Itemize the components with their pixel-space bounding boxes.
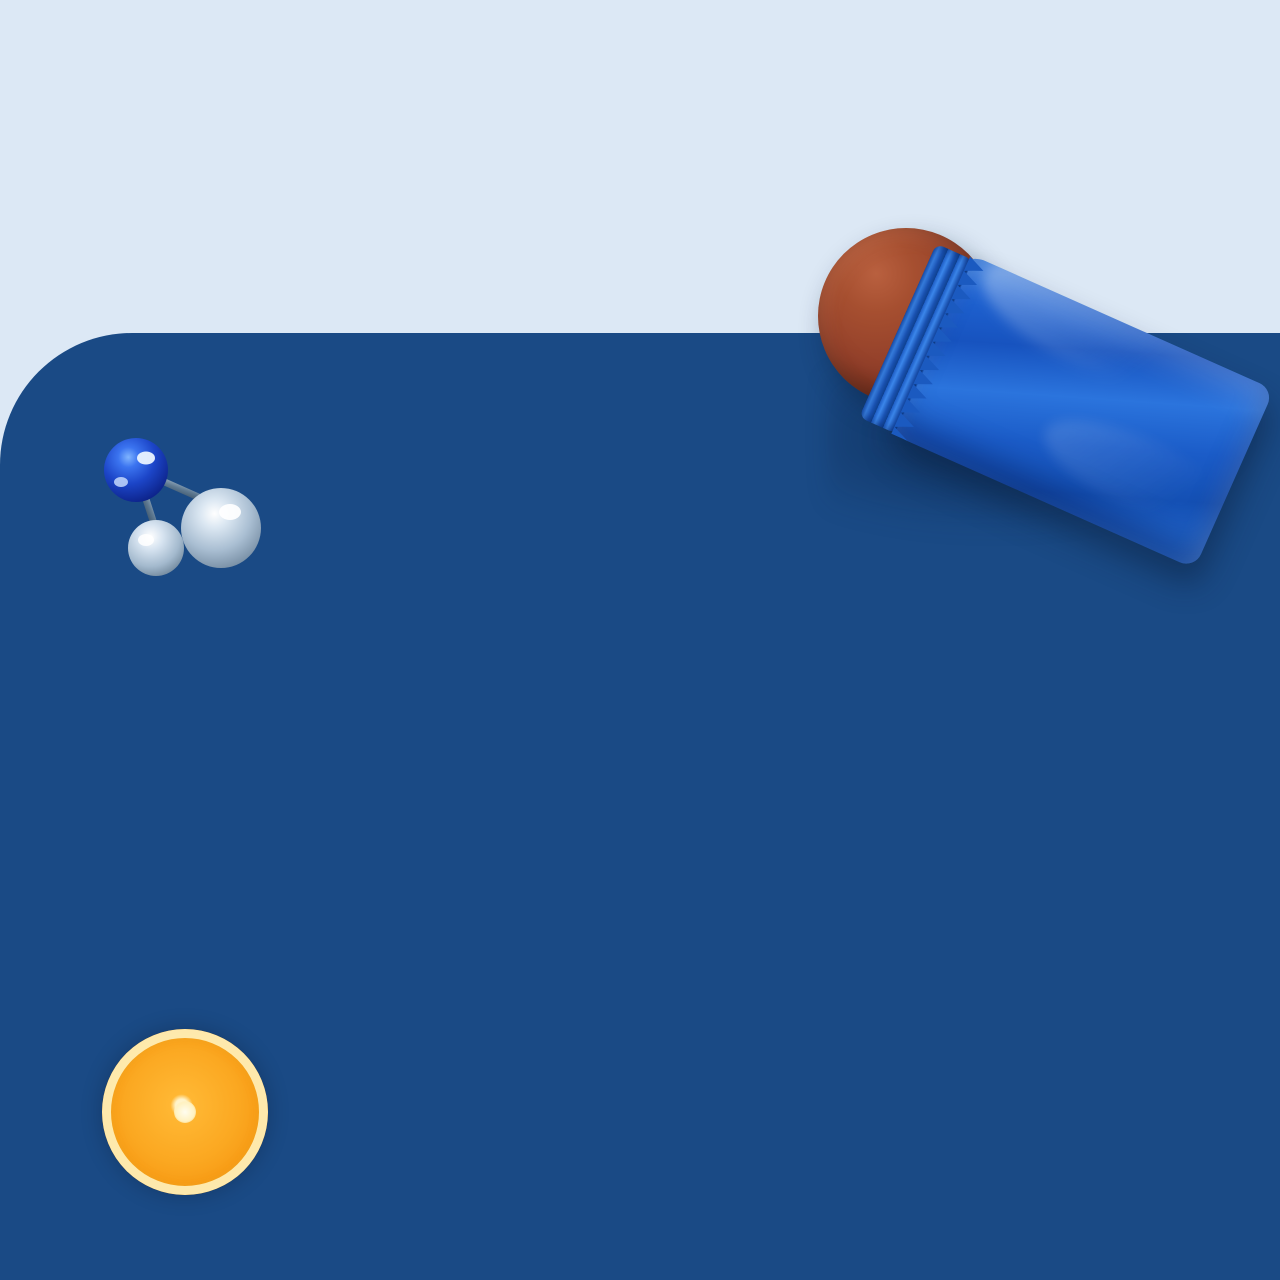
orange-slice-icon-art bbox=[102, 1029, 268, 1195]
pumpkin-seeds-icon bbox=[80, 825, 310, 995]
ingredient-row bbox=[80, 428, 1110, 598]
ingredient-text bbox=[310, 1109, 1110, 1111]
ingredient-text bbox=[310, 714, 1110, 716]
ingredient-row bbox=[80, 1023, 1110, 1193]
ingredient-row bbox=[80, 825, 1110, 995]
orange-rind bbox=[102, 1029, 268, 1195]
ingredient-text bbox=[310, 514, 1110, 516]
ingredient-text bbox=[310, 911, 1110, 913]
orange-slice-icon bbox=[80, 1023, 310, 1193]
ingredient-list bbox=[0, 333, 1280, 1280]
molecule-icon-svg bbox=[80, 428, 310, 598]
ingredient-row bbox=[80, 628, 1110, 798]
pumpkin-seeds-icon-art bbox=[98, 831, 298, 991]
molecule-icon bbox=[80, 428, 310, 598]
almonds-icon-art bbox=[98, 636, 294, 786]
almonds-icon bbox=[80, 628, 310, 798]
